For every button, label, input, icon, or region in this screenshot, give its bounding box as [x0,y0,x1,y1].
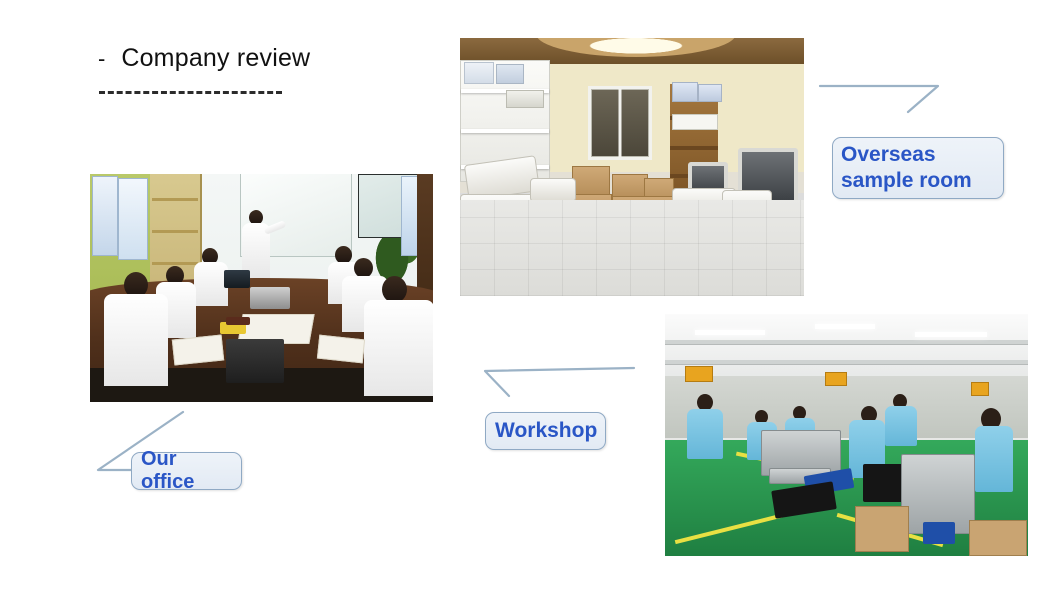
office-poster-a [92,176,118,256]
office-scene [90,174,433,402]
office-body [194,262,228,306]
office-head [382,276,407,303]
office-poster-b [118,178,148,260]
workshop-beam [665,340,1028,344]
workshop-lamp [915,332,987,337]
office-body [104,294,168,386]
callout-workshop-label: Workshop [495,419,597,443]
heading-bullet: - [98,48,105,70]
sample-room-cart [530,178,576,202]
office-body [364,300,433,396]
workshop-worker [687,409,723,459]
sample-room-window [588,86,652,160]
workshop-sign [825,372,847,386]
callout-overseas-sample-room-label: Overseas sample room [841,142,995,194]
connector-overseas-icon [812,74,948,118]
callout-our-office[interactable]: Our office [131,452,242,490]
workshop-sign [971,382,989,396]
sample-room-shelf-item [506,90,544,108]
office-equipment [226,339,284,383]
callout-our-office-label: Our office [141,448,232,494]
office-head [354,258,373,278]
heading-dashed-rule [99,91,282,94]
photo-office-meeting [90,174,433,402]
workshop-blue-bin [923,522,955,544]
workshop-worker [885,406,917,446]
workshop-beam [665,360,1028,364]
sample-room-shelf-item [496,64,524,84]
workshop-worker [975,426,1013,492]
sample-room-shelf-item [672,82,698,102]
workshop-scene [665,314,1028,556]
office-laptop [224,270,250,288]
heading-text: Company review [121,46,310,71]
sample-room-shelf-item [672,114,718,130]
workshop-lamp [695,330,765,335]
callout-overseas-sample-room[interactable]: Overseas sample room [832,137,1004,199]
office-paper [172,334,224,365]
workshop-carton [855,506,909,552]
workshop-lamp [815,324,875,329]
sample-room-shelf-item [698,84,722,102]
office-paper [317,335,365,364]
sample-room-shelf-item [464,62,494,84]
photo-overseas-sample-room [460,38,804,296]
callout-workshop[interactable]: Workshop [485,412,606,450]
office-equipment [250,287,290,309]
sample-room-scene [460,38,804,296]
office-dark-tool [226,317,250,325]
sample-room-floor [460,200,804,296]
workshop-sign [685,366,713,382]
workshop-carton [969,520,1027,556]
page-title: - Company review [98,46,310,71]
photo-workshop [665,314,1028,556]
connector-workshop-icon [476,356,642,404]
